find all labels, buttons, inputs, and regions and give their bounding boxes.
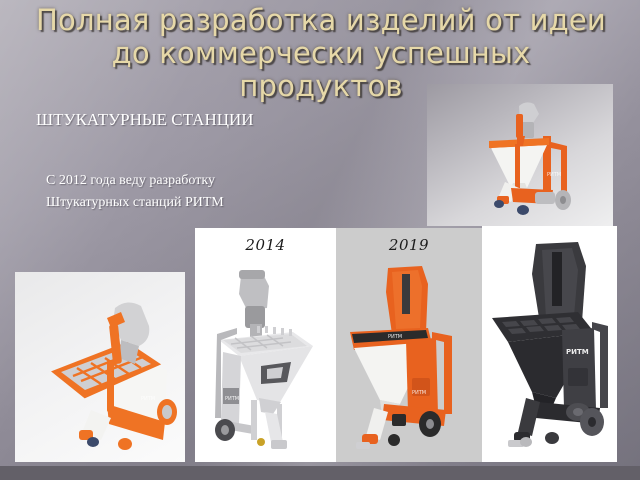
year-label-2014: 2014 (195, 236, 336, 254)
image-panel-2019: 2019 РИ (336, 228, 482, 462)
machine-brand-label: РИТМ (141, 396, 155, 402)
year-label-2019: 2019 (336, 236, 482, 254)
slide-body-text: С 2012 года веду разработку Штукатурных … (46, 170, 316, 214)
body-line-1: С 2012 года веду разработку (46, 170, 316, 192)
machine-brand-label: РИТМ (566, 348, 589, 356)
machine-brand-label-2: РИТМ (412, 390, 426, 396)
machine-brand-label: РИТМ (547, 172, 561, 178)
image-panel-top-right: РИТМ (427, 84, 613, 226)
image-panel-2014: 2014 (195, 228, 336, 462)
plastering-station-orange-2019-icon: РИТМ РИТМ (336, 228, 482, 462)
machine-brand-label: РИТМ (388, 334, 402, 340)
plastering-station-orange-top-view-icon: РИТМ (15, 272, 185, 462)
plastering-station-orange-white-hopper-icon: РИТМ (427, 84, 613, 226)
body-line-2: Штукатурных станций РИТМ (46, 192, 316, 214)
image-panel-dark: РИТМ (482, 226, 617, 462)
presentation-slide: Полная разработка изделий от идеи до ком… (0, 0, 640, 480)
slide-subtitle: ШТУКАТУРНЫЕ СТАНЦИИ (36, 110, 276, 130)
machine-brand-label: РИТМ (225, 396, 239, 402)
plastering-station-dark-grey-icon: РИТМ (482, 226, 617, 462)
slide-title: Полная разработка изделий от идеи до ком… (28, 4, 614, 103)
plastering-station-grey-2014-icon: РИТМ (195, 228, 336, 462)
image-panel-bottom-left: РИТМ (15, 272, 185, 462)
